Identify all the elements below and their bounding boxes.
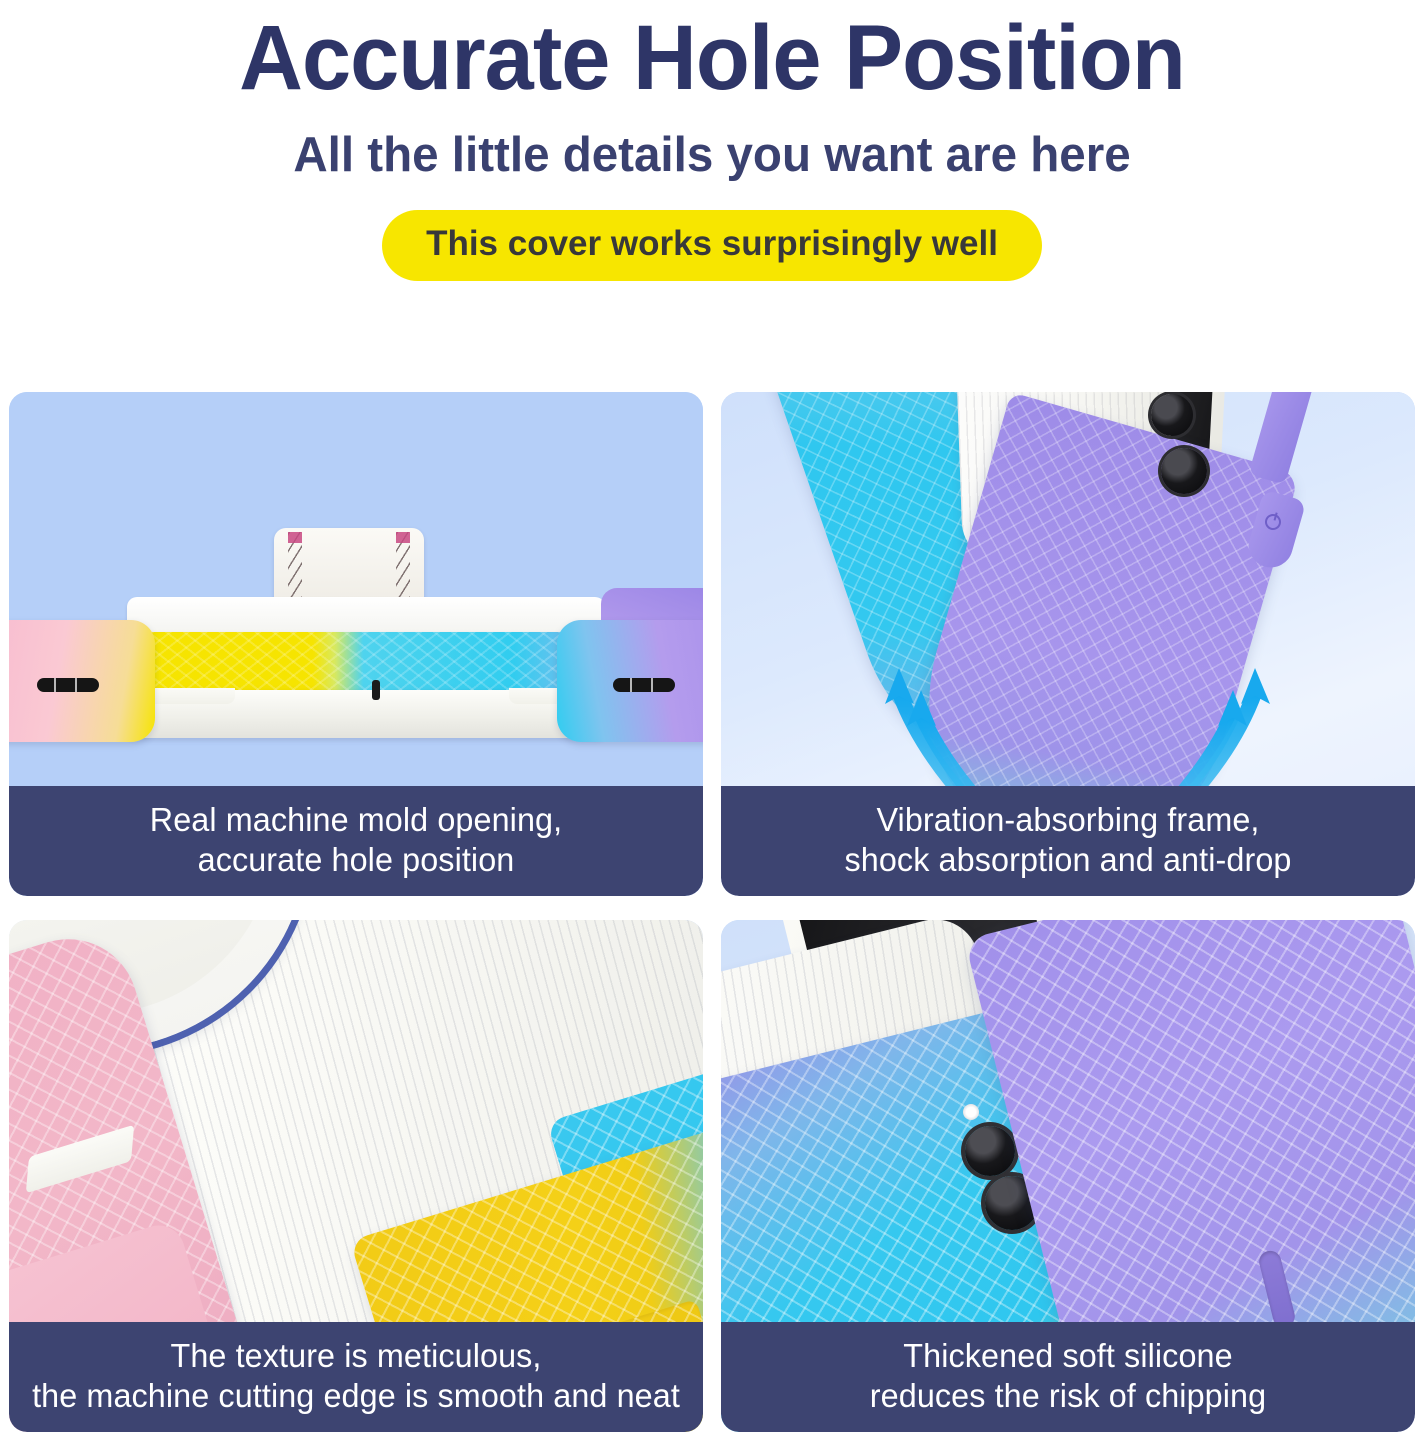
feature-panel-silicone: Thickened soft silicone reduces the risk…: [721, 920, 1415, 1432]
speaker-cutout-left: [37, 678, 99, 692]
stitch-zigzag-left-icon: [288, 532, 302, 604]
microphone-hole: [372, 680, 380, 700]
caption-line-1: Real machine mold opening,: [26, 800, 687, 840]
highlight-badge: This cover works surprisingly well: [382, 210, 1042, 281]
camera-lens-top: [965, 1126, 1015, 1176]
page-title: Accurate Hole Position: [28, 6, 1395, 110]
caption-line-1: The texture is meticulous,: [26, 1336, 687, 1376]
feature-panel-hole-position: Real machine mold opening, accurate hole…: [9, 392, 703, 896]
caption-line-2: the machine cutting edge is smooth and n…: [26, 1376, 687, 1416]
kickstand-tab: [274, 528, 424, 608]
caption-line-2: shock absorption and anti-drop: [738, 840, 1399, 880]
speaker-cutout-right: [613, 678, 675, 692]
camera-flash: [963, 1104, 979, 1120]
caption-line-1: Thickened soft silicone: [738, 1336, 1399, 1376]
feature-panel-grid: Real machine mold opening, accurate hole…: [9, 392, 1415, 1432]
feature-panel-vibration: +: [721, 392, 1415, 896]
page-subtitle: All the little details you want are here: [21, 124, 1402, 186]
caption-line-1: Vibration-absorbing frame,: [738, 800, 1399, 840]
stitch-zigzag-right-icon: [396, 532, 410, 604]
header: Accurate Hole Position All the little de…: [0, 0, 1424, 281]
panel-caption-texture: The texture is meticulous, the machine c…: [9, 1322, 703, 1432]
panel-caption-vibration: Vibration-absorbing frame, shock absorpt…: [721, 786, 1415, 896]
product-feature-page: Accurate Hole Position All the little de…: [0, 0, 1424, 1438]
badge-row: This cover works surprisingly well: [0, 210, 1424, 281]
panel-caption-hole-position: Real machine mold opening, accurate hole…: [9, 786, 703, 896]
panel-caption-silicone: Thickened soft silicone reduces the risk…: [721, 1322, 1415, 1432]
feature-panel-texture: The texture is meticulous, the machine c…: [9, 920, 703, 1432]
caption-line-2: accurate hole position: [26, 840, 687, 880]
caption-line-2: reduces the risk of chipping: [738, 1376, 1399, 1416]
